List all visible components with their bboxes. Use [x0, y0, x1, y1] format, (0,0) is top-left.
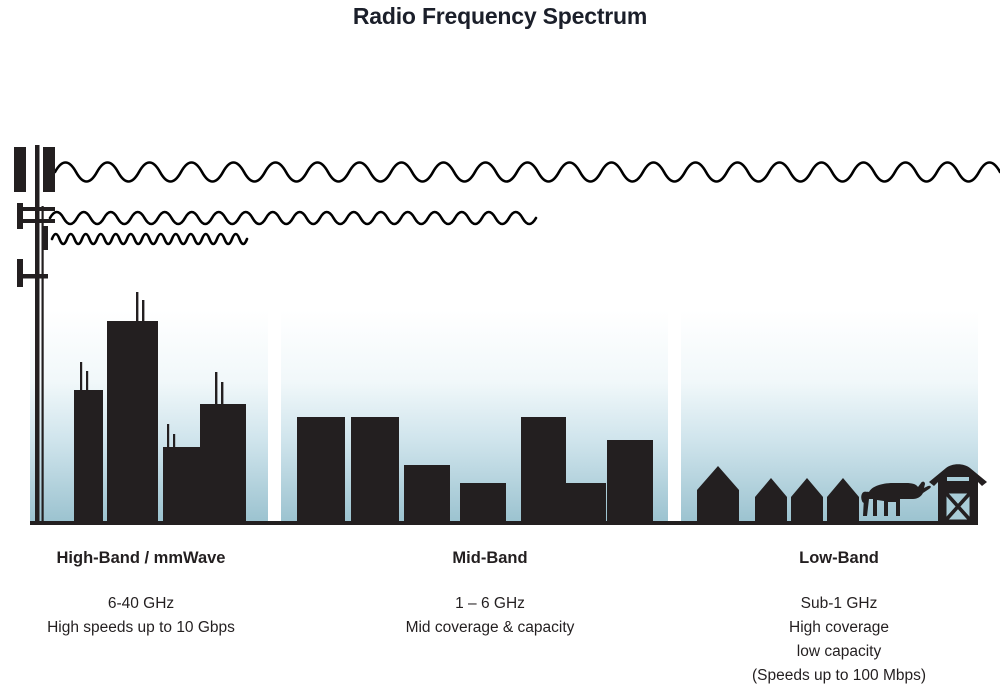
- band-desc-line: low capacity: [698, 640, 980, 664]
- band-description-mid: 1 – 6 GHz Mid coverage & capacity: [349, 592, 631, 640]
- suburban-building-4: [460, 483, 506, 521]
- band-label-low: Low-Band: [698, 549, 980, 568]
- city-building-3-spire-b: [173, 434, 175, 449]
- suburban-building-7: [607, 440, 653, 521]
- ground-line: [30, 521, 978, 525]
- band-label-high: High-Band / mmWave: [0, 549, 282, 568]
- city-building-1-spire-a: [80, 362, 82, 392]
- barn-window: [947, 477, 969, 481]
- band-description-high: 6-40 GHz High speeds up to 10 Gbps: [0, 592, 282, 640]
- tower-antenna-small-upper: [17, 203, 23, 229]
- tower-crossarm-upper: [21, 207, 55, 211]
- city-building-4: [200, 404, 246, 521]
- band-desc-line: Sub-1 GHz: [698, 592, 980, 616]
- band-label-mid: Mid-Band: [349, 549, 631, 568]
- band-desc-line: High coverage: [698, 616, 980, 640]
- low-frequency-wave: [55, 163, 1000, 182]
- tower-antenna-small-lower: [17, 259, 23, 287]
- band-desc-line: High speeds up to 10 Gbps: [0, 616, 282, 640]
- band-desc-line: 1 – 6 GHz: [349, 592, 631, 616]
- suburban-building-3: [404, 465, 450, 521]
- tower-antenna-panel-right: [43, 147, 55, 192]
- tower-antenna-vertical-mid: [42, 226, 48, 250]
- city-building-2-spire-b: [142, 300, 144, 323]
- city-building-2-spire-a: [136, 292, 138, 323]
- tower-mast-secondary: [42, 206, 44, 521]
- high-frequency-wave: [52, 234, 247, 244]
- city-building-1-spire-b: [86, 371, 88, 392]
- infographic-canvas: Radio Frequency Spectrum: [0, 0, 1000, 700]
- city-building-4-spire-b: [221, 382, 223, 406]
- tower-crossarm-upper-2: [21, 219, 55, 223]
- city-building-4-spire-a: [215, 372, 217, 406]
- city-building-2: [107, 321, 158, 521]
- suburban-building-6: [566, 483, 606, 521]
- mid-frequency-wave: [50, 212, 536, 224]
- suburban-building-1: [297, 417, 345, 521]
- band-desc-line: (Speeds up to 100 Mbps): [698, 664, 980, 688]
- tower-mast-main: [35, 145, 40, 521]
- city-building-3: [163, 447, 201, 521]
- band-desc-line: 6-40 GHz: [0, 592, 282, 616]
- tower-antenna-panel-left: [14, 147, 26, 192]
- radio-waves: [50, 163, 1000, 245]
- city-building-1: [74, 390, 103, 521]
- city-building-3-spire-a: [167, 424, 169, 449]
- suburban-building-5: [521, 417, 566, 521]
- band-desc-line: Mid coverage & capacity: [349, 616, 631, 640]
- tower-crossarm-lower: [21, 274, 48, 279]
- suburban-building-2: [351, 417, 399, 521]
- band-description-low: Sub-1 GHz High coverage low capacity (Sp…: [698, 592, 980, 688]
